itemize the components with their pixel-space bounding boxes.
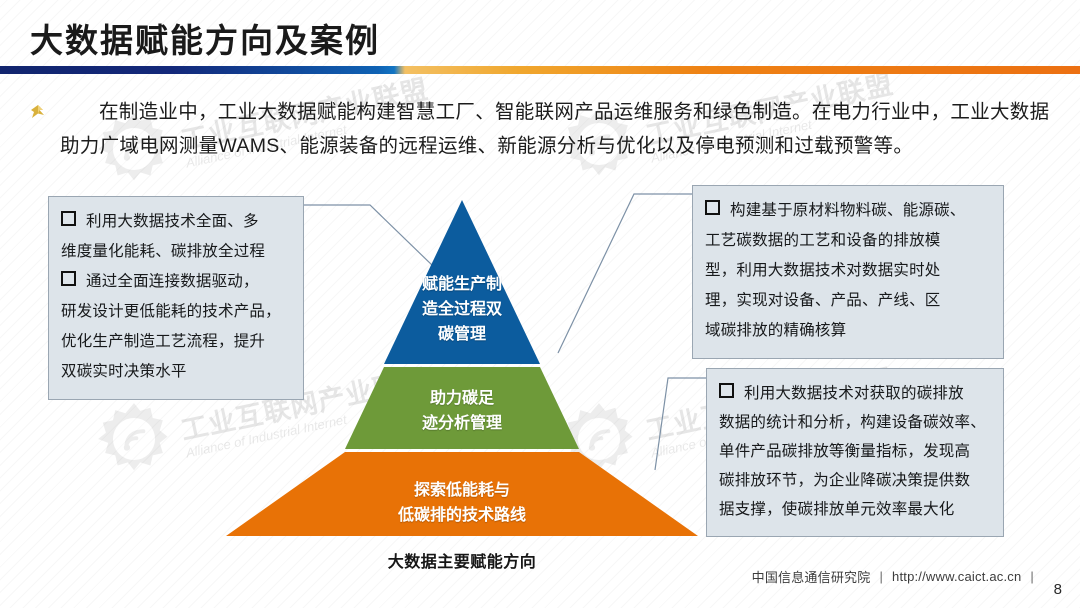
footer-org: 中国信息通信研究院 xyxy=(752,567,871,586)
page-title: 大数据赋能方向及案例 xyxy=(30,14,380,62)
callout-left-text-1: 利用大数据技术全面、多 xyxy=(86,213,259,230)
callout-top-right-text-1: 构建基于原材料物料碳、能源碳、 xyxy=(730,202,966,219)
pyramid-caption: 大数据主要赋能方向 xyxy=(222,548,702,572)
gear-wifi-logo-icon xyxy=(95,400,173,478)
callout-bottom-right-line-4: 碳排放环节，为企业降碳决策提供数 xyxy=(719,466,995,495)
checkbox-square-icon xyxy=(61,271,76,286)
lead-paragraph-block: 在制造业中，工业大数据赋能构建智慧工厂、智能联网产品运维服务和绿色制造。在电力行… xyxy=(30,95,1060,163)
checkbox-square-icon xyxy=(719,383,734,398)
footer: 中国信息通信研究院 | http://www.caict.ac.cn | xyxy=(752,567,1034,586)
callout-bottom-right-line-2: 数据的统计和分析，构建设备碳效率、 xyxy=(719,408,995,437)
callout-left-line-4: 研发设计更低能耗的技术产品， xyxy=(61,297,294,327)
page-number: 8 xyxy=(1054,581,1062,598)
callout-top-right-line-5: 域碳排放的精确核算 xyxy=(705,316,994,346)
callout-top-right: 构建基于原材料物料碳、能源碳、 工艺碳数据的工艺和设备的排放模 型，利用大数据技… xyxy=(692,185,1004,359)
footer-separator-1: | xyxy=(879,569,883,584)
footer-url[interactable]: http://www.caict.ac.cn xyxy=(892,569,1021,584)
callout-left-line-3: 通过全面连接数据驱动， xyxy=(61,267,294,297)
checkbox-square-icon xyxy=(705,200,720,215)
callout-left-line-6: 双碳实时决策水平 xyxy=(61,357,294,387)
pyramid-tier-middle[interactable] xyxy=(345,367,579,449)
callout-bottom-right-line-1: 利用大数据技术对获取的碳排放 xyxy=(719,379,995,408)
gold-diamond-bullet-icon xyxy=(30,104,46,120)
callout-left-line-1: 利用大数据技术全面、多 xyxy=(61,207,294,237)
footer-separator-2: | xyxy=(1030,569,1034,584)
callout-left: 利用大数据技术全面、多 维度量化能耗、碳排放全过程 通过全面连接数据驱动， 研发… xyxy=(48,196,304,400)
title-divider-rule xyxy=(0,66,1080,74)
slide-root: 工业互联网产业联盟 Alliance of Industrial Interne… xyxy=(0,0,1080,608)
lead-paragraph-text: 在制造业中，工业大数据赋能构建智慧工厂、智能联网产品运维服务和绿色制造。在电力行… xyxy=(60,95,1060,163)
callout-left-text-3: 通过全面连接数据驱动， xyxy=(86,273,259,290)
callout-bottom-right-text-1: 利用大数据技术对获取的碳排放 xyxy=(744,385,964,402)
callout-bottom-right-line-5: 据支撑，使碳排放单元效率最大化 xyxy=(719,495,995,524)
callout-top-right-line-2: 工艺碳数据的工艺和设备的排放模 xyxy=(705,226,994,256)
callout-bottom-right: 利用大数据技术对获取的碳排放 数据的统计和分析，构建设备碳效率、 单件产品碳排放… xyxy=(706,368,1004,537)
checkbox-square-icon xyxy=(61,211,76,226)
pyramid-tier-top[interactable] xyxy=(384,200,540,364)
callout-left-line-5: 优化生产制造工艺流程，提升 xyxy=(61,327,294,357)
callout-bottom-right-line-3: 单件产品碳排放等衡量指标，发现高 xyxy=(719,437,995,466)
pyramid-tier-bottom[interactable] xyxy=(226,452,698,536)
callout-left-line-2: 维度量化能耗、碳排放全过程 xyxy=(61,237,294,267)
callout-top-right-line-3: 型，利用大数据技术对数据实时处 xyxy=(705,256,994,286)
callout-top-right-line-4: 理，实现对设备、产品、产线、区 xyxy=(705,286,994,316)
callout-top-right-line-1: 构建基于原材料物料碳、能源碳、 xyxy=(705,196,994,226)
